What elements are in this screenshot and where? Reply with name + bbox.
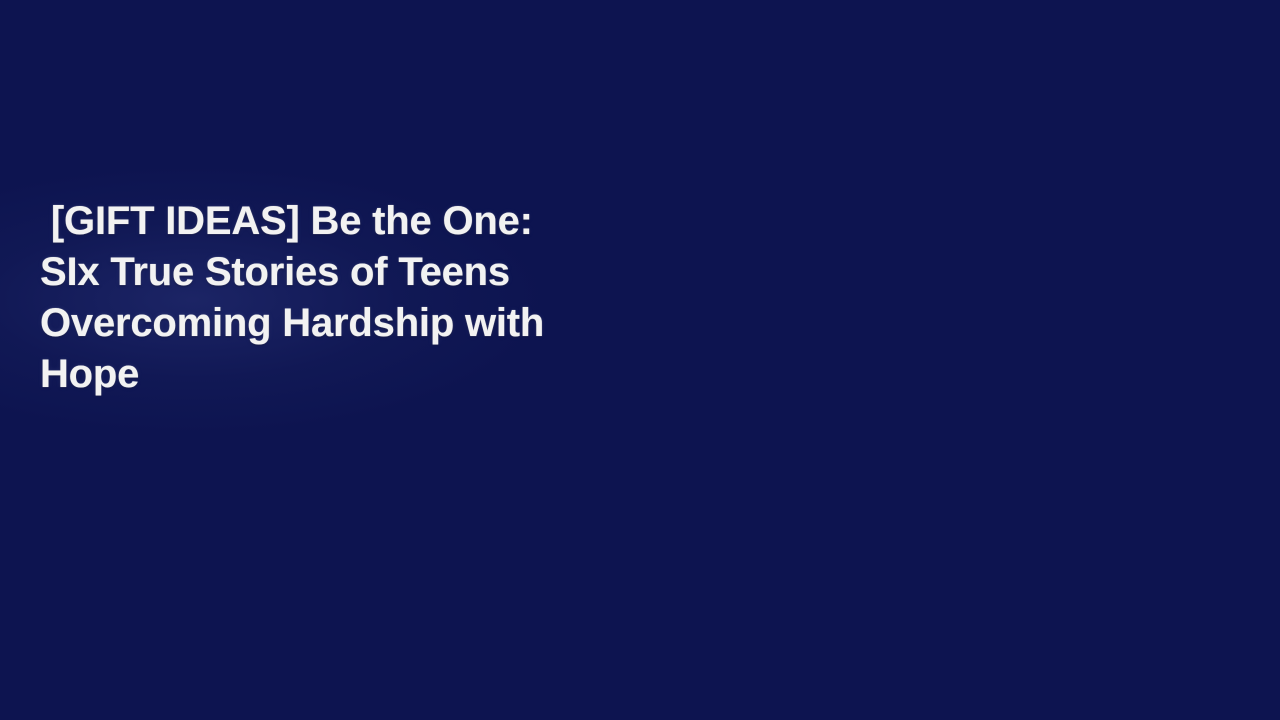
title-line-4: Hope xyxy=(40,349,700,400)
title-line-2: SIx True Stories of Teens xyxy=(40,247,700,298)
title-line-1: [GIFT IDEAS] Be the One: xyxy=(40,196,700,247)
promo-title-text: [GIFT IDEAS] Be the One: SIx True Storie… xyxy=(40,196,700,400)
title-line-3: Overcoming Hardship with xyxy=(40,298,700,349)
promo-title-card: [GIFT IDEAS] Be the One: SIx True Storie… xyxy=(0,0,1280,720)
